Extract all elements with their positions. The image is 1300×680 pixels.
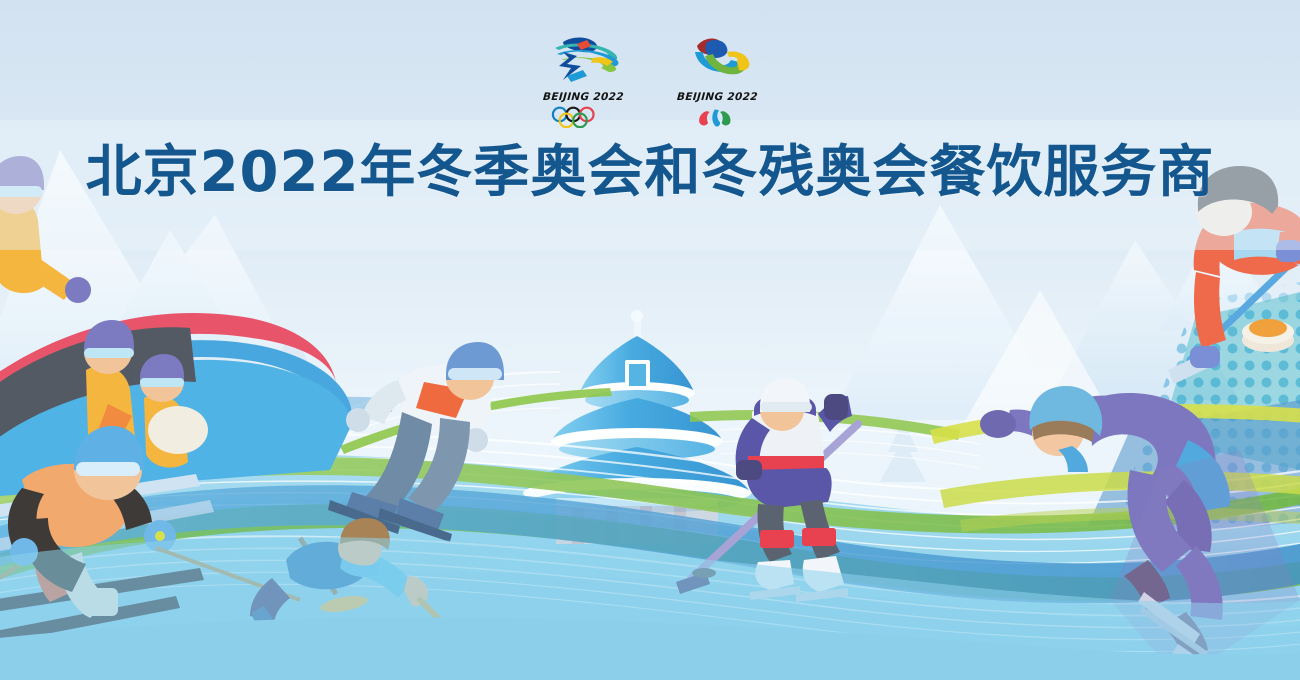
agitos-icon bbox=[681, 106, 754, 128]
page-title: 北京2022年冬季奥会和冬残奥会餐饮服务商 bbox=[0, 143, 1300, 203]
olympic-emblem[interactable]: BEIJING 2022 bbox=[537, 34, 629, 128]
paralympic-wordmark: BEIJING 2022 bbox=[676, 91, 758, 103]
paralympic-emblem[interactable]: BEIJING 2022 bbox=[671, 34, 763, 128]
beijing-2022-catering-banner: BEIJING 2022 BEIJING 2022 bbox=[0, 0, 1300, 680]
paralympic-emblem-icon bbox=[671, 34, 763, 88]
olympic-emblem-icon bbox=[537, 34, 629, 88]
olympic-rings-icon bbox=[547, 106, 620, 128]
olympic-wordmark: BEIJING 2022 bbox=[542, 91, 624, 103]
emblem-row: BEIJING 2022 BEIJING 2022 bbox=[0, 34, 1300, 128]
